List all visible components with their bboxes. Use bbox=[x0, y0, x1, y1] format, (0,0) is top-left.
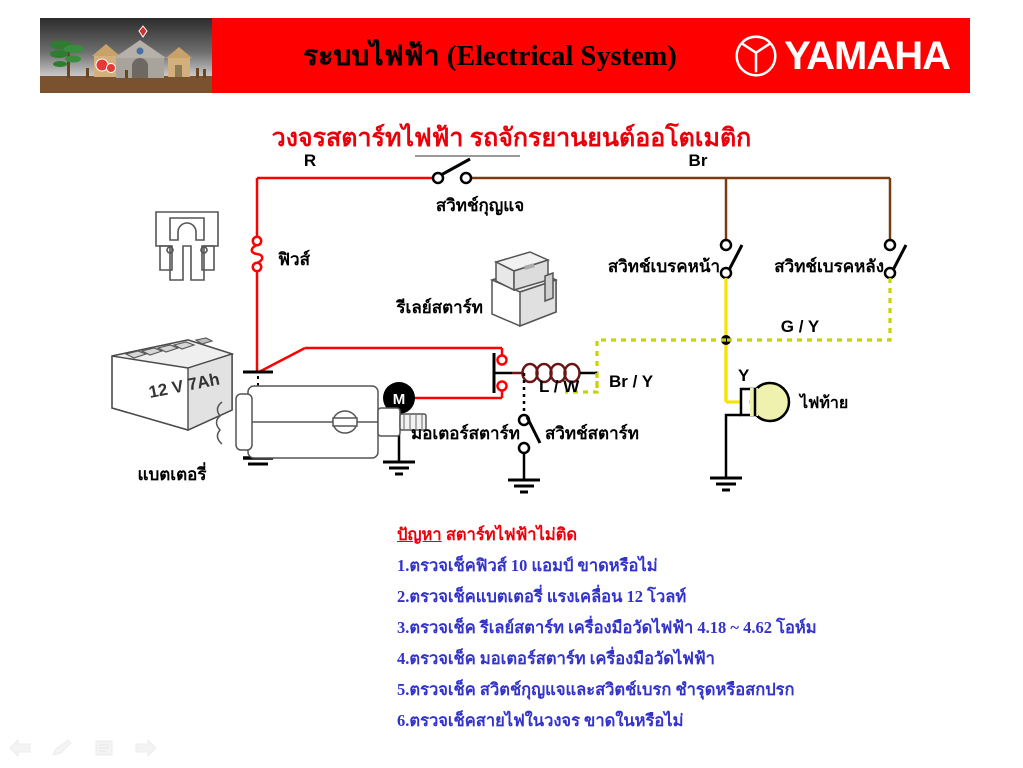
notes-heading-rest: สตาร์ทไฟฟ้าไม่ติด bbox=[442, 525, 577, 544]
wire-label-lw: L / W bbox=[539, 377, 580, 396]
slide-canvas: ระบบไฟฟ้า (Electrical System) YAMAHA วงจ… bbox=[0, 0, 1023, 768]
wire-label-br: Br bbox=[689, 151, 708, 170]
notes-heading: ปัญหา สตาร์ทไฟฟ้าไม่ติด bbox=[397, 519, 997, 550]
label-rear-brake-switch: สวิทช์เบรคหลัง bbox=[774, 256, 884, 276]
wire-label-y: Y bbox=[738, 366, 750, 385]
note-item-2: 2.ตรวจเช็คแบตเตอรี่ แรงเคลื่อน 12 โวลท์ bbox=[397, 581, 997, 612]
key-switch-symbol bbox=[433, 159, 471, 183]
wire-label-bry: Br / Y bbox=[609, 372, 654, 391]
label-tail-light: ไฟท้าย bbox=[798, 393, 848, 412]
front-brake-switch-symbol bbox=[721, 240, 742, 278]
wire-label-r: R bbox=[304, 151, 316, 170]
wire-label-gy: G / Y bbox=[781, 317, 820, 336]
note-item-3: 3.ตรวจเช็ค รีเลย์สตาร์ท เครื่องมือวัดไฟฟ… bbox=[397, 612, 997, 643]
slideshow-nav-bar[interactable] bbox=[8, 738, 158, 758]
notes-heading-label: ปัญหา bbox=[397, 525, 442, 544]
pen-tool-button[interactable] bbox=[50, 738, 74, 758]
label-fuse: ฟิวส์ bbox=[278, 249, 311, 269]
yamaha-logo: YAMAHA bbox=[735, 35, 950, 77]
starter-relay-icon bbox=[492, 252, 556, 326]
svg-text:M: M bbox=[393, 391, 406, 408]
brown-wire-path bbox=[472, 178, 890, 240]
note-item-4: 4.ตรวจเช็ค มอเตอร์สตาร์ท เครื่องมือวัดไฟ… bbox=[397, 643, 997, 674]
label-battery: แบตเตอรี่ bbox=[138, 462, 208, 484]
slide-menu-button[interactable] bbox=[92, 738, 116, 758]
arrow-left-icon bbox=[8, 738, 32, 758]
note-item-6: 6.ตรวจเช็คสายไฟในวงจร ขาดในหรือไม่ bbox=[397, 705, 997, 736]
slide-header: ระบบไฟฟ้า (Electrical System) YAMAHA bbox=[40, 18, 970, 93]
blade-fuse-symbol bbox=[252, 237, 263, 271]
arrow-right-icon bbox=[134, 738, 158, 758]
motorcycle-battery-icon: 12 V 7Ah bbox=[112, 338, 232, 430]
tail-light-bulb-symbol bbox=[710, 383, 789, 490]
pen-icon bbox=[50, 738, 74, 758]
rear-brake-switch-symbol bbox=[885, 240, 906, 278]
next-slide-button[interactable] bbox=[134, 738, 158, 758]
label-front-brake-switch: สวิทช์เบรคหน้า bbox=[608, 256, 720, 276]
label-starter-switch: สวิทช์สตาร์ท bbox=[545, 423, 639, 443]
troubleshooting-notes: ปัญหา สตาร์ทไฟฟ้าไม่ติด 1.ตรวจเช็คฟิวส์ … bbox=[397, 519, 997, 736]
label-starter-motor: มอเตอร์สตาร์ท bbox=[411, 423, 520, 443]
note-item-1: 1.ตรวจเช็คฟิวส์ 10 แอมป์ ขาดหรือไม่ bbox=[397, 550, 997, 581]
yamaha-tuning-fork-icon bbox=[735, 35, 777, 77]
relay-contact-symbol bbox=[494, 353, 512, 393]
label-key-switch: สวิทช์กุญแจ bbox=[436, 195, 524, 216]
wiring-diagram: M bbox=[0, 140, 1023, 520]
previous-slide-button[interactable] bbox=[8, 738, 32, 758]
village-temple-illustration bbox=[40, 18, 212, 93]
label-starter-relay: รีเลย์สตาร์ท bbox=[396, 297, 483, 317]
page-title: ระบบไฟฟ้า (Electrical System) bbox=[210, 18, 770, 93]
blade-fuse-icon bbox=[156, 212, 218, 280]
menu-icon bbox=[92, 738, 116, 758]
note-item-5: 5.ตรวจเช็ค สวิตช์กุญแจและสวิตช์เบรก ชำรุ… bbox=[397, 674, 997, 705]
yamaha-wordmark: YAMAHA bbox=[784, 36, 950, 76]
